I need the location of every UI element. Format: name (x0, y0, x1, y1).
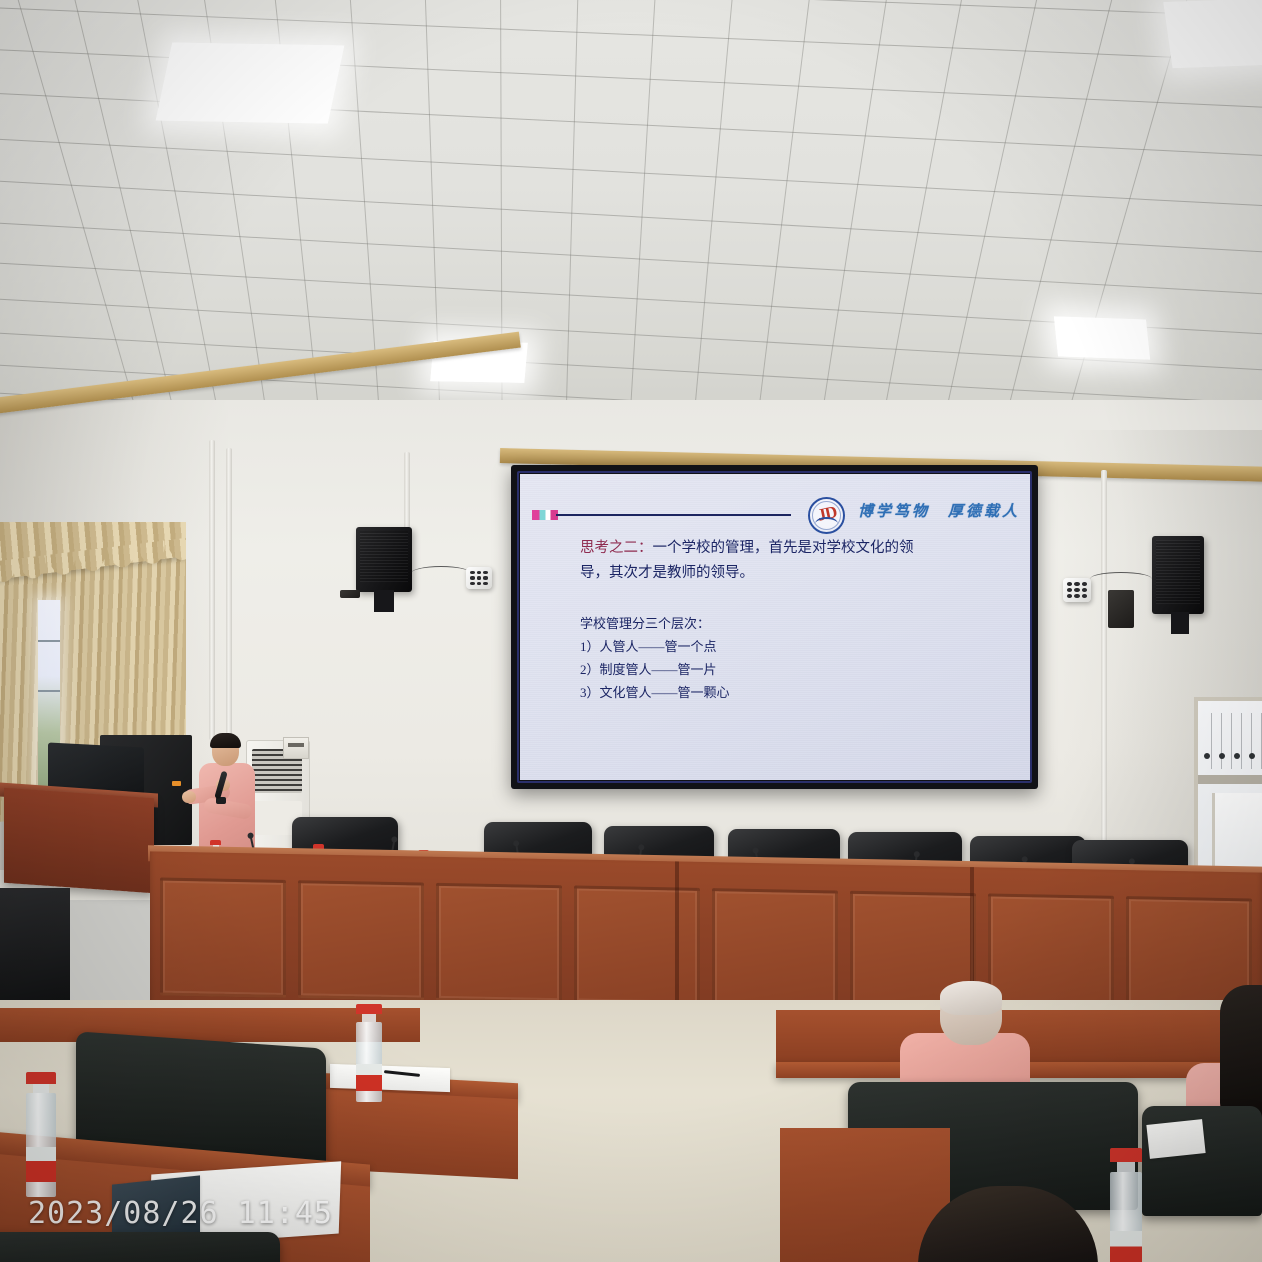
slide-lead-line2: 导，其次才是教师的领导。 (580, 561, 996, 586)
speaker-cable (410, 566, 472, 582)
bottle-neck (1117, 1162, 1135, 1172)
rostrum-panel (436, 883, 562, 1003)
wall-equipment-box-left (340, 590, 360, 598)
camera-cable (1090, 572, 1152, 586)
school-logo-icon: JD (808, 497, 845, 534)
photo-timestamp: 2023/08/26 11:45 (28, 1196, 333, 1231)
camera-sensor-array (1067, 582, 1087, 598)
rostrum-panel-row (150, 877, 1262, 1016)
speaker-mount-bracket (374, 590, 394, 612)
slide-list-item-2: 2）制度管人——管一片 (520, 658, 1030, 681)
slide-subtitle: 学校管理分三个层次： (520, 612, 1030, 635)
ceiling-light-panel (156, 42, 345, 123)
notebook-open-back (330, 1064, 450, 1092)
wall-conduit (209, 440, 215, 740)
ceiling-light-panel (1054, 316, 1150, 359)
bottle-body (1110, 1172, 1142, 1262)
slide-lead-highlight: 思考之二： (580, 540, 653, 556)
bottle-cap (1110, 1148, 1142, 1162)
slide-body: 思考之二：一个学校的管理，首先是对学校文化的领 导，其次才是教师的领导。 学校管… (520, 536, 1030, 704)
conference-hall-photo: JD 博学笃物 厚德载人 思考之二：一个学校的管理，首先是对学校文化的领 导，其… (0, 0, 1262, 1262)
window-transom-rail (1198, 775, 1262, 784)
rostrum-panel (298, 880, 424, 1000)
wall-equipment-box-right (1108, 590, 1134, 628)
audience-member-front (918, 1186, 1098, 1262)
slide-lead-paragraph: 思考之二：一个学校的管理，首先是对学校文化的领 导，其次才是教师的领导。 (520, 536, 1030, 586)
slide-header: JD 博学笃物 厚德载人 (520, 494, 1030, 534)
rostrum-panel (160, 878, 286, 998)
presentation-slide: JD 博学笃物 厚德载人 思考之二：一个学校的管理，首先是对学校文化的领 导，其… (520, 474, 1030, 780)
presenter-hair (210, 733, 241, 748)
bottle-body (26, 1093, 56, 1197)
bottle-label (26, 1147, 56, 1182)
audience-hair (918, 1186, 1098, 1262)
water-bottle (1110, 1148, 1142, 1262)
speaker-grille (360, 531, 408, 582)
audience-hair (940, 981, 1002, 1015)
wall-conduit (226, 448, 232, 738)
equipment-power-led (172, 781, 181, 786)
podium (4, 788, 154, 893)
slide-lead-line1: 一个学校的管理，首先是对学校文化的领 (653, 540, 914, 556)
led-display-screen: JD 博学笃物 厚德载人 思考之二：一个学校的管理，首先是对学校文化的领 导，其… (511, 465, 1038, 789)
ptz-camera-left (466, 567, 492, 589)
wall-conduit (1101, 470, 1107, 890)
logo-wave-mark (815, 517, 838, 524)
bottle-cap (356, 1004, 382, 1014)
ptz-camera-right (1063, 578, 1091, 602)
wall-speaker-left (356, 527, 412, 592)
wall-speaker-right (1152, 536, 1204, 614)
speaker-grille (1156, 540, 1200, 604)
rostrum-panel (712, 888, 838, 1008)
bottle-body (356, 1022, 382, 1102)
bottle-neck (33, 1084, 49, 1093)
equipment-rack (0, 888, 70, 1008)
wall-switch-box (283, 737, 309, 759)
rostrum-panel (574, 885, 700, 1005)
window-grille-studs (1204, 753, 1262, 759)
window-grille (1202, 713, 1262, 769)
slide-list-item-1: 1）人管人——管一个点 (520, 635, 1030, 658)
window-mullion (38, 690, 60, 692)
bottle-label (356, 1064, 382, 1091)
bottle-label (1110, 1231, 1142, 1262)
presenter-hand-right (182, 791, 196, 803)
handout-paper (1146, 1119, 1205, 1159)
slide-corner-marker-icon (532, 510, 558, 520)
bottle-cap (26, 1072, 56, 1084)
water-bottle (356, 1004, 382, 1084)
camera-sensor-array (470, 571, 488, 585)
audience-hair-long (1220, 985, 1262, 1123)
school-motto: 博学笃物 厚德载人 (858, 500, 1020, 521)
slide-list-item-3: 3）文化管人——管一颗心 (520, 681, 1030, 704)
ceiling-light-panel (1163, 0, 1262, 68)
water-bottle (26, 1072, 56, 1176)
slide-header-rule (556, 514, 791, 516)
audience-bench-back-front-left (0, 1232, 280, 1262)
speaker-mount-bracket (1171, 612, 1189, 634)
window-mullion (38, 640, 60, 642)
bottle-neck (362, 1014, 376, 1022)
